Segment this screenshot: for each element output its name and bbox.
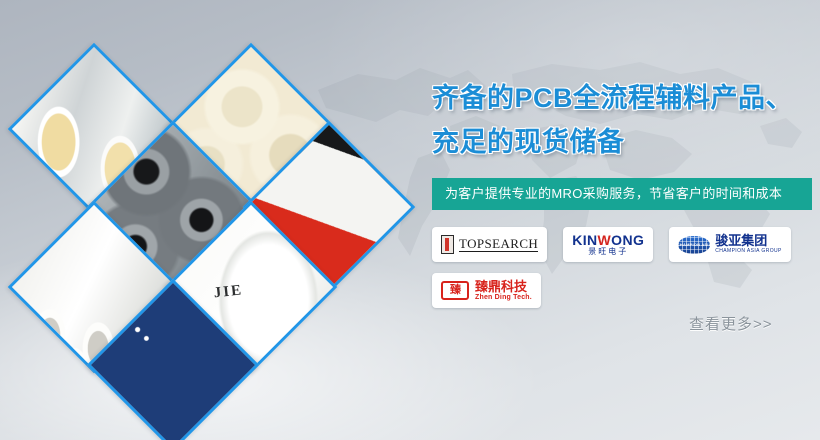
logo-kinwong-label: KINWONG <box>572 233 644 247</box>
subtitle-bar: 为客户提供专业的MRO采购服务，节省客户的时间和成本 <box>432 178 812 210</box>
logo-champion-asia[interactable]: CHAMPION ASIA 骏亚集团 CHAMPION ASIA GROUP <box>669 227 791 262</box>
logo-zhen-ding-label-en: Zhen Ding Tech. <box>475 294 532 302</box>
release-paper-print-mark: JIE <box>213 283 244 301</box>
product-collage: JIE <box>0 0 430 440</box>
logo-zhen-ding-text: 臻鼎科技 Zhen Ding Tech. <box>475 280 532 302</box>
kinwong-accent: W <box>598 232 612 248</box>
kinwong-part2: ONG <box>611 232 644 248</box>
kinwong-part1: KIN <box>572 232 597 248</box>
logo-zhen-ding-label-cn: 臻鼎科技 <box>475 280 532 294</box>
headline-line-1: 齐备的PCB全流程辅料产品、 <box>432 76 812 120</box>
topsearch-tower-icon <box>441 235 454 254</box>
logo-zhen-ding[interactable]: 臻 臻鼎科技 Zhen Ding Tech. <box>432 273 541 308</box>
partner-logo-row: TOPSEARCH KINWONG 景旺电子 CHAMPION ASIA 骏亚集… <box>432 227 792 308</box>
champion-asia-globe-icon: CHAMPION ASIA <box>678 236 710 254</box>
banner-content: 齐备的PCB全流程辅料产品、 充足的现货储备 为客户提供专业的MRO采购服务，节… <box>432 76 812 308</box>
logo-topsearch-label: TOPSEARCH <box>459 237 538 252</box>
champion-asia-globe-text: CHAMPION ASIA <box>677 242 712 247</box>
logo-kinwong-sublabel: 景旺电子 <box>588 247 628 257</box>
view-more-link[interactable]: 查看更多>> <box>689 313 773 334</box>
promo-banner: JIE 齐备的PCB全流程辅料产品、 充足的现货储备 为客户提供专业的MRO采购… <box>0 0 820 440</box>
logo-champion-asia-text: 骏亚集团 CHAMPION ASIA GROUP <box>715 234 782 255</box>
logo-kinwong[interactable]: KINWONG 景旺电子 <box>563 227 653 262</box>
logo-topsearch[interactable]: TOPSEARCH <box>432 227 547 262</box>
headline-line-2: 充足的现货储备 <box>432 120 812 164</box>
zhen-ding-square-icon: 臻 <box>441 281 469 300</box>
logo-champion-asia-label-en: CHAMPION ASIA GROUP <box>715 247 782 255</box>
logo-champion-asia-label-cn: 骏亚集团 <box>715 234 782 247</box>
